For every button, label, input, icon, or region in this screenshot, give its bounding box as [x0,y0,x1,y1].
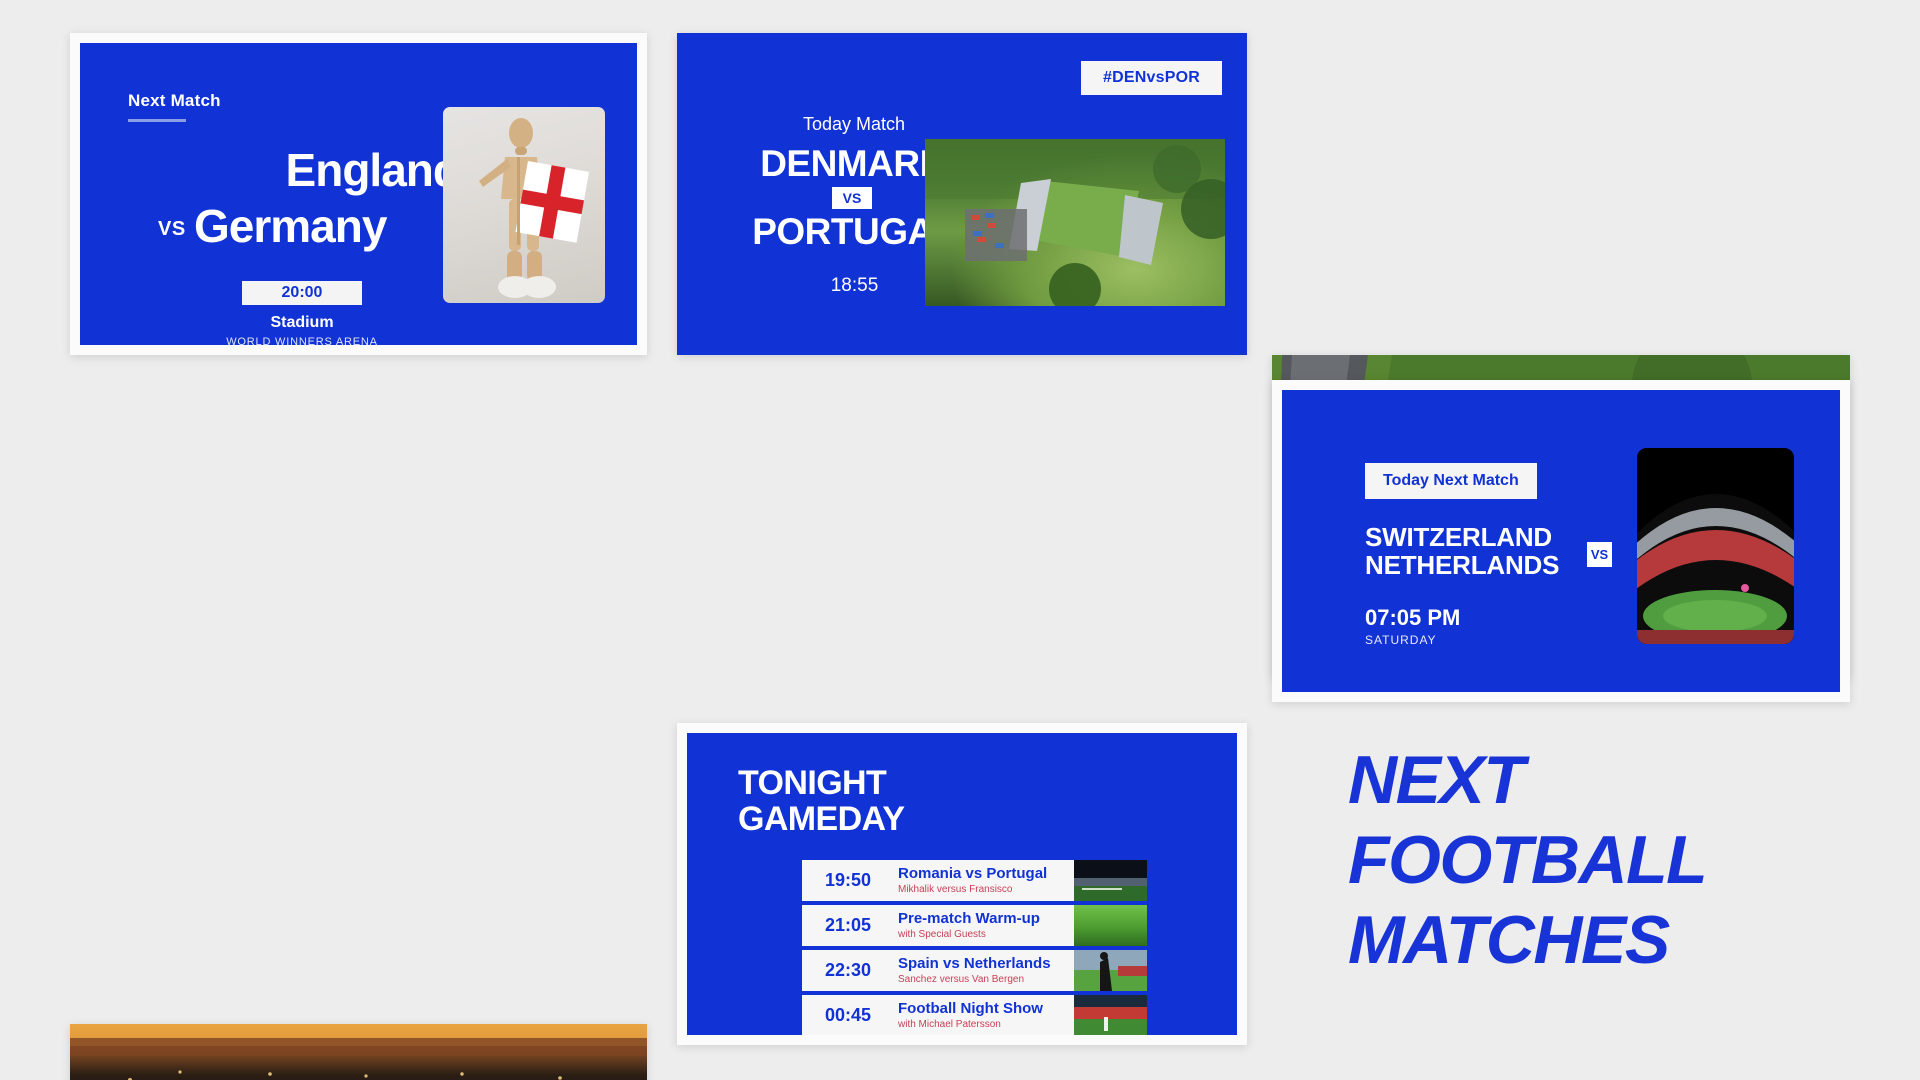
tonight-gameday-row-time: 19:50 [802,870,894,891]
next-match-photo [443,107,605,303]
tonight-gameday-row-subtitle: Sanchez versus Van Bergen [898,974,1074,985]
today-match-label: Today Match [759,114,949,135]
card-next-match[interactable]: Next Match England VS Germany 20:00 Stad… [70,33,647,355]
today-next-team1: SWITZERLAND [1365,522,1552,553]
tonight-gameday-title-line1: TONIGHT [738,764,886,802]
quarter-final-background-photo [70,1024,647,1080]
tonight-gameday-row-photo [1074,860,1147,901]
next-match-team2: Germany [194,203,386,249]
floodlit-stadium-illustration [1637,448,1794,644]
card-tonight-gameday-surface: TONIGHT GAMEDAY 19:50 Romania vs Portuga… [687,733,1237,1035]
tonight-gameday-row-subtitle: with Special Guests [898,929,1074,940]
today-match-hashtag[interactable]: #DENvsPOR [1081,61,1222,95]
next-match-label-underline [128,119,186,122]
fan-raising-arm-illustration [1074,950,1147,991]
card-today-next-surface: Today Next Match SWITZERLAND NETHERLANDS… [1282,390,1840,692]
tonight-gameday-row[interactable]: 22:30 Spain vs Netherlands Sanchez versu… [802,950,1147,991]
tonight-gameday-row-text: Romania vs Portugal Mikhalik versus Fran… [894,866,1074,895]
tonight-gameday-row-text: Football Night Show with Michael Paterss… [894,1001,1074,1030]
today-next-badge: Today Next Match [1365,463,1537,499]
mannequin-figure-icon [443,107,605,303]
tonight-gameday-row[interactable]: 19:50 Romania vs Portugal Mikhalik versu… [802,860,1147,901]
card-today-next-match[interactable]: Today Next Match SWITZERLAND NETHERLANDS… [1272,380,1850,702]
tonight-gameday-row-time: 22:30 [802,960,894,981]
tonight-gameday-row-text: Spain vs Netherlands Sanchez versus Van … [894,956,1074,985]
today-next-time: 07:05 PM [1365,605,1460,631]
tonight-gameday-row-photo [1074,950,1147,991]
card-quarter-final[interactable]: THURSDAY NETHERLANDS VS SWITZERLAND 21:0… [70,1024,647,1080]
tonight-gameday-row-title: Football Night Show [898,1001,1074,1018]
today-next-photo [1637,448,1794,644]
card-tonight-gameday[interactable]: TONIGHT GAMEDAY 19:50 Romania vs Portuga… [677,723,1247,1045]
next-match-time-badge: 20:00 [242,281,362,305]
card-next-match-surface: Next Match England VS Germany 20:00 Stad… [80,43,637,345]
next-match-venue-name: WORLD WINNERS ARENA [182,336,422,345]
tonight-gameday-row-photo [1074,995,1147,1035]
next-match-vs: VS [158,218,186,241]
page-headline: NEXT FOOTBALL MATCHES [1348,740,1848,981]
tonight-gameday-row-time: 00:45 [802,1005,894,1026]
players-on-pitch-illustration [1074,995,1147,1035]
tonight-gameday-row-time: 21:05 [802,915,894,936]
tonight-gameday-title-line2: GAMEDAY [738,800,904,838]
tonight-gameday-row[interactable]: 00:45 Football Night Show with Michael P… [802,995,1147,1035]
today-match-vs: VS [832,187,872,209]
tonight-gameday-row-subtitle: Mikhalik versus Fransisco [898,884,1074,895]
empty-stand-illustration [1074,860,1147,901]
today-next-day: SATURDAY [1365,633,1437,647]
match-templates-board: Next Match England VS Germany 20:00 Stad… [0,0,1920,1080]
night-city-stadium-illustration [70,1024,647,1080]
next-match-label: Next Match [128,91,221,111]
tonight-gameday-row-subtitle: with Michael Patersson [898,1019,1074,1030]
today-next-team2: NETHERLANDS [1365,550,1559,581]
tonight-gameday-title: TONIGHT GAMEDAY [738,766,904,837]
aerial-stadium-illustration [925,139,1225,306]
tonight-gameday-row-photo [1074,905,1147,946]
today-next-vs: VS [1587,542,1612,567]
tonight-gameday-row-title: Romania vs Portugal [898,866,1074,883]
next-match-team1: England [140,147,460,193]
card-today-match[interactable]: #DENvsPOR Today Match DENMARK VS PORTUGA… [677,33,1247,355]
tonight-gameday-row-text: Pre-match Warm-up with Special Guests [894,911,1074,940]
tonight-gameday-row[interactable]: 21:05 Pre-match Warm-up with Special Gue… [802,905,1147,946]
tonight-gameday-list: 19:50 Romania vs Portugal Mikhalik versu… [802,860,1147,1035]
tonight-gameday-row-title: Pre-match Warm-up [898,911,1074,928]
today-match-time: 18:55 [762,275,947,297]
tonight-gameday-row-title: Spain vs Netherlands [898,956,1074,973]
today-match-photo [925,139,1225,306]
next-match-venue-label: Stadium [202,314,402,332]
